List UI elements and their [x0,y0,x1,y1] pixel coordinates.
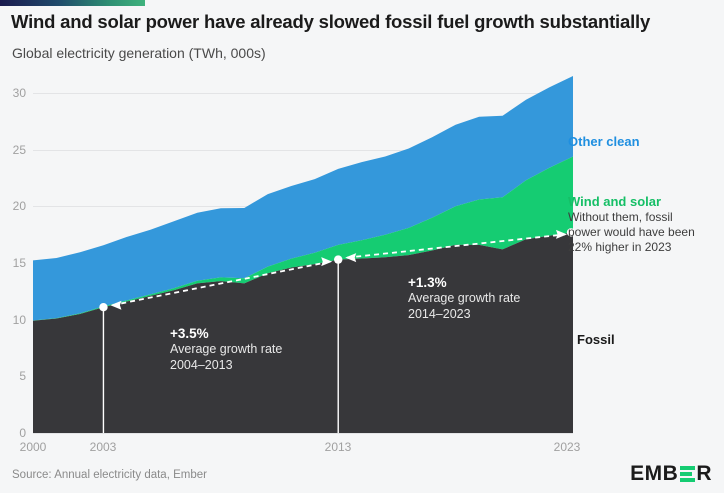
legend-note-line-2: power would have been [568,225,695,240]
annotation-1-line2: 2004–2013 [170,357,282,373]
chart-area: 30 25 20 15 10 5 0 2000 2003 2013 2023 [0,0,724,493]
legend-label-other-clean: Other clean [568,134,640,149]
ember-e-bars-icon [680,466,695,482]
annotation-growth-2014-2023: +1.3% Average growth rate 2014–2023 [408,275,520,322]
annotation-growth-2004-2013: +3.5% Average growth rate 2004–2013 [170,326,282,373]
logo-text-left: EMB [630,462,678,486]
annotation-1-pct: +3.5% [170,326,282,341]
legend-label-fossil: Fossil [577,332,615,347]
ember-logo: EMB R [630,462,712,486]
legend-label-wind-and-solar: Wind and solar [568,194,661,209]
legend-note-line-1: Without them, fossil [568,210,673,225]
marker-dot-2013 [334,255,342,263]
source-note: Source: Annual electricity data, Ember [12,469,207,481]
annotation-2-pct: +1.3% [408,275,520,290]
legend-note-line-3: 22% higher in 2023 [568,240,671,255]
logo-text-right: R [696,462,712,486]
annotation-2-line1: Average growth rate [408,290,520,306]
marker-dot-2003 [99,303,107,311]
annotation-1-line1: Average growth rate [170,341,282,357]
annotation-2-line2: 2014–2023 [408,306,520,322]
